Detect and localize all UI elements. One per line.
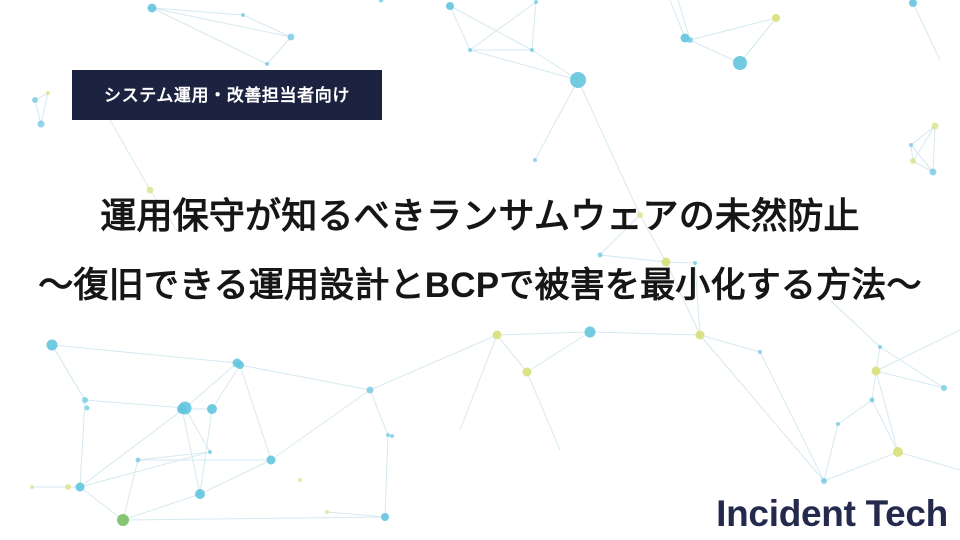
audience-badge-label: システム運用・改善担当者向け: [104, 87, 350, 104]
page-title-line-2: 〜復旧できる運用設計とBCPで被害を最小化する方法〜: [0, 268, 960, 303]
title-block: 運用保守が知るべきランサムウェアの未然防止 〜復旧できる運用設計とBCPで被害を…: [0, 198, 960, 303]
presentation-slide: システム運用・改善担当者向け 運用保守が知るべきランサムウェアの未然防止 〜復旧…: [0, 0, 960, 540]
brand-logo-text: Incident Tech: [716, 495, 948, 532]
brand-logo: Incident Tech: [716, 495, 948, 532]
audience-badge: システム運用・改善担当者向け: [72, 70, 382, 120]
page-title-line-1: 運用保守が知るべきランサムウェアの未然防止: [0, 198, 960, 234]
